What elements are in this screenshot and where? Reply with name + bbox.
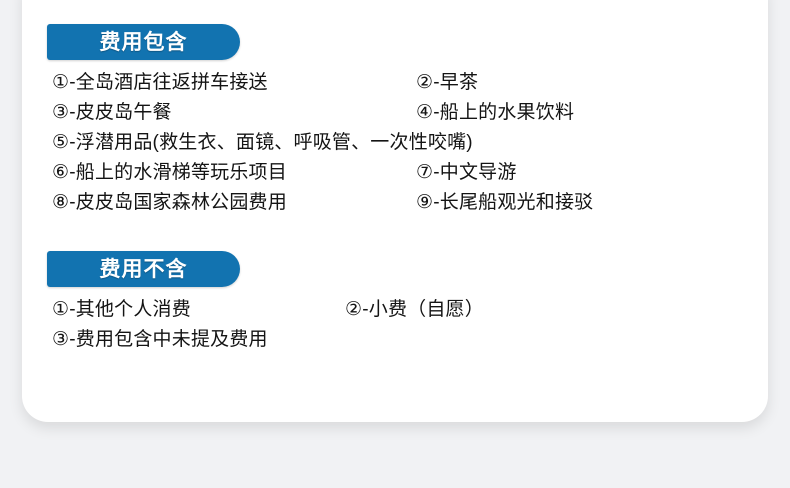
list-item: ⑨-长尾船观光和接驳	[416, 189, 593, 217]
section-badge-exclusions: 费用不含	[47, 251, 240, 287]
list-item: ①-其他个人消费	[52, 296, 191, 324]
list-item: ⑤-浮潜用品(救生衣、面镜、呼吸管、一次性咬嘴)	[52, 129, 473, 157]
list-item: ②-小费（自愿）	[345, 296, 484, 324]
list-item: ③-皮皮岛午餐	[52, 99, 172, 127]
section-badge-label-inclusions: 费用包含	[100, 32, 188, 53]
list-item: ①-全岛酒店往返拼车接送	[52, 69, 268, 97]
list-item: ⑦-中文导游	[416, 159, 517, 187]
list-item: ⑧-皮皮岛国家森林公园费用	[52, 189, 287, 217]
list-item: ④-船上的水果饮料	[416, 99, 574, 127]
list-item: ⑥-船上的水滑梯等玩乐项目	[52, 159, 287, 187]
section-badge-label-exclusions: 费用不含	[100, 259, 188, 280]
content-card: 费用包含 ①-全岛酒店往返拼车接送 ②-早茶 ③-皮皮岛午餐 ④-船上的水果饮料…	[22, 0, 768, 422]
list-item: ③-费用包含中未提及费用	[52, 326, 268, 354]
card-inner: 费用包含 ①-全岛酒店往返拼车接送 ②-早茶 ③-皮皮岛午餐 ④-船上的水果饮料…	[22, 0, 768, 422]
section-badge-inclusions: 费用包含	[47, 24, 240, 60]
list-item: ②-早茶	[416, 69, 478, 97]
